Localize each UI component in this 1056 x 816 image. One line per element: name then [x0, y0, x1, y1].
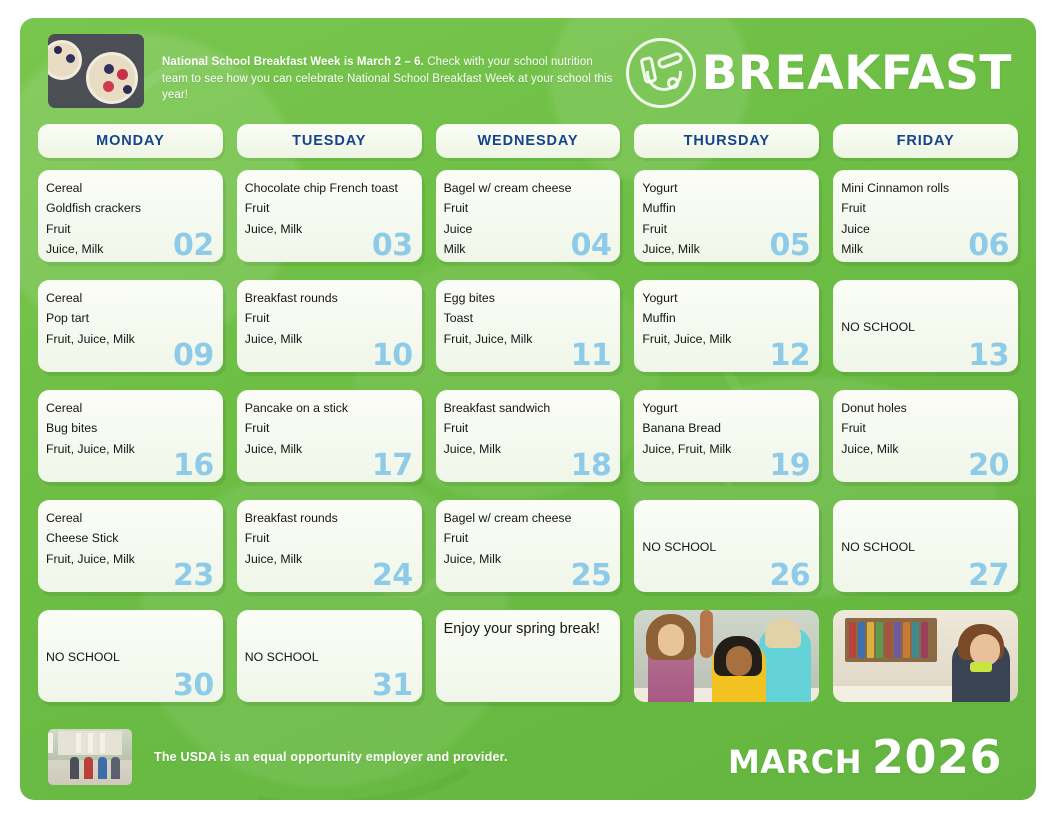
menu-item-line: Fruit	[245, 198, 412, 218]
menu-items: NO SCHOOL	[841, 317, 915, 337]
menu-item-line: Muffin	[642, 198, 809, 218]
menu-items: YogurtMuffinFruit, Juice, Milk	[642, 288, 809, 349]
calendar-cell-11[interactable]: Egg bitesToastFruit, Juice, Milk11	[436, 280, 621, 372]
calendar-cell-25[interactable]: Bagel w/ cream cheeseFruitJuice, Milk25	[436, 500, 621, 592]
menu-item-line: NO SCHOOL	[245, 647, 319, 667]
calendar-panel: National School Breakfast Week is March …	[20, 18, 1036, 800]
menu-item-line: Muffin	[642, 308, 809, 328]
menu-item-line: Cereal	[46, 178, 213, 198]
bowl-shape	[86, 52, 138, 104]
menu-item-line: Donut holes	[841, 398, 1008, 418]
menu-item-line: Yogurt	[642, 178, 809, 198]
menu-item-line: Fruit	[841, 418, 1008, 438]
menu-item-line: Milk	[841, 239, 1008, 259]
calendar-cell-18[interactable]: Breakfast sandwichFruitJuice, Milk18	[436, 390, 621, 482]
face-shape	[726, 646, 752, 676]
menu-items: Breakfast roundsFruitJuice, Milk	[245, 508, 412, 569]
menu-item-line: Fruit	[444, 198, 611, 218]
menu-items: YogurtBanana BreadJuice, Fruit, Milk	[642, 398, 809, 459]
promo-headline: National School Breakfast Week is March …	[162, 56, 424, 68]
breakfast-wordmark: BREAKFAST	[702, 50, 1012, 97]
berry-shape	[123, 85, 132, 94]
menu-items: Pancake on a stickFruitJuice, Milk	[245, 398, 412, 459]
menu-items: Enjoy your spring break!	[444, 618, 611, 640]
menu-item-line: NO SCHOOL	[841, 537, 915, 557]
menu-item-line: Bug bites	[46, 418, 213, 438]
usda-notice: The USDA is an equal opportunity employe…	[154, 750, 508, 764]
collar-shape	[970, 662, 992, 672]
face-shape	[658, 624, 684, 656]
menu-item-line: Juice, Milk	[245, 439, 412, 459]
calendar-grid: CerealGoldfish crackersFruitJuice, Milk0…	[38, 170, 1018, 702]
menu-item-line: NO SCHOOL	[642, 537, 716, 557]
calendar-cell-26[interactable]: NO SCHOOL26	[634, 500, 819, 592]
menu-item-line: Juice, Milk	[642, 239, 809, 259]
calendar-cell-photo	[634, 610, 819, 702]
weekday-header-tuesday: TUESDAY	[237, 124, 422, 158]
hair-shape	[765, 618, 801, 648]
menu-item-line: Juice	[841, 219, 1008, 239]
menu-item-line: Fruit	[46, 219, 213, 239]
students-on-campus-steps-photo	[48, 729, 132, 785]
menu-items: CerealGoldfish crackersFruitJuice, Milk	[46, 178, 213, 260]
menu-item-line: Fruit	[841, 198, 1008, 218]
calendar-cell-03[interactable]: Chocolate chip French toastFruitJuice, M…	[237, 170, 422, 262]
calendar-cell-16[interactable]: CerealBug bitesFruit, Juice, Milk16	[38, 390, 223, 482]
menu-item-line: Juice, Milk	[245, 219, 412, 239]
berry-shape	[104, 64, 114, 74]
menu-item-line: NO SCHOOL	[46, 647, 120, 667]
menu-item-line: Bagel w/ cream cheese	[444, 508, 611, 528]
menu-item-line: Fruit	[245, 528, 412, 548]
calendar-cell-27[interactable]: NO SCHOOL27	[833, 500, 1018, 592]
menu-item-line: Juice, Milk	[444, 549, 611, 569]
menu-item-line: Fruit, Juice, Milk	[642, 329, 809, 349]
menu-item-line: Fruit, Juice, Milk	[46, 439, 213, 459]
menu-items: NO SCHOOL	[642, 537, 716, 557]
calendar-cell-06[interactable]: Mini Cinnamon rollsFruitJuiceMilk06	[833, 170, 1018, 262]
menu-item-line: Mini Cinnamon rolls	[841, 178, 1008, 198]
column-shape	[76, 733, 81, 753]
library-student-photo	[833, 610, 1018, 702]
menu-item-line: Fruit, Juice, Milk	[444, 329, 611, 349]
menu-items: YogurtMuffinFruitJuice, Milk	[642, 178, 809, 260]
month-year-title: MARCH 2026	[728, 730, 1014, 784]
menu-items: NO SCHOOL	[245, 647, 319, 667]
berry-shape	[117, 69, 128, 80]
day-number: 31	[372, 671, 413, 701]
menu-item-line: Fruit	[444, 528, 611, 548]
menu-item-line: Chocolate chip French toast	[245, 178, 412, 198]
menu-item-line: Enjoy your spring break!	[444, 618, 611, 640]
menu-item-line: Fruit	[444, 418, 611, 438]
menu-item-line: Fruit	[245, 418, 412, 438]
menu-item-line: Fruit, Juice, Milk	[46, 549, 213, 569]
weekday-header-friday: FRIDAY	[833, 124, 1018, 158]
weekday-header-wednesday: WEDNESDAY	[436, 124, 621, 158]
menu-items: Mini Cinnamon rollsFruitJuiceMilk	[841, 178, 1008, 260]
menu-items: Donut holesFruitJuice, Milk	[841, 398, 1008, 459]
menu-item-line: Fruit	[642, 219, 809, 239]
menu-item-line: Pop tart	[46, 308, 213, 328]
student-shape	[84, 757, 93, 779]
table-shape	[833, 686, 970, 702]
weekday-header-monday: MONDAY	[38, 124, 223, 158]
menu-items: NO SCHOOL	[841, 537, 915, 557]
menu-items: Bagel w/ cream cheeseFruitJuice, Milk	[444, 508, 611, 569]
calendar-cell-30[interactable]: NO SCHOOL30	[38, 610, 223, 702]
berry-shape	[103, 81, 114, 92]
menu-items: CerealCheese StickFruit, Juice, Milk	[46, 508, 213, 569]
calendar-cell-23[interactable]: CerealCheese StickFruit, Juice, Milk23	[38, 500, 223, 592]
menu-item-line: Juice, Milk	[245, 329, 412, 349]
menu-item-line: Breakfast sandwich	[444, 398, 611, 418]
menu-item-line: Juice, Milk	[841, 439, 1008, 459]
classroom-students-photo	[634, 610, 819, 702]
calendar-cell-19[interactable]: YogurtBanana BreadJuice, Fruit, Milk19	[634, 390, 819, 482]
egg-icon-part	[667, 77, 679, 89]
calendar-cell-31[interactable]: NO SCHOOL31	[237, 610, 422, 702]
menu-items: Breakfast sandwichFruitJuice, Milk	[444, 398, 611, 459]
calendar-cell-24[interactable]: Breakfast roundsFruitJuice, Milk24	[237, 500, 422, 592]
promo-text: National School Breakfast Week is March …	[162, 32, 617, 104]
student-shape	[70, 757, 79, 779]
weekday-header-thursday: THURSDAY	[634, 124, 819, 158]
calendar-cell-13[interactable]: NO SCHOOL13	[833, 280, 1018, 372]
menu-item-line: Pancake on a stick	[245, 398, 412, 418]
bowl-shape	[48, 40, 82, 80]
menu-item-line: Yogurt	[642, 288, 809, 308]
menu-item-line: Cereal	[46, 508, 213, 528]
calendar-cell-12[interactable]: YogurtMuffinFruit, Juice, Milk12	[634, 280, 819, 372]
student-shape	[48, 757, 57, 779]
menu-item-line: Fruit, Juice, Milk	[46, 329, 213, 349]
student-shape	[98, 757, 107, 779]
student-shape	[111, 757, 120, 779]
menu-items: CerealPop tartFruit, Juice, Milk	[46, 288, 213, 349]
menu-items: NO SCHOOL	[46, 647, 120, 667]
column-shape	[100, 733, 105, 753]
calendar-footer: The USDA is an equal opportunity employe…	[38, 720, 1018, 790]
menu-items: CerealBug bitesFruit, Juice, Milk	[46, 398, 213, 459]
calendar-header: National School Breakfast Week is March …	[38, 32, 1018, 124]
menu-item-line: Cereal	[46, 398, 213, 418]
menu-item-line: Banana Bread	[642, 418, 809, 438]
berry-shape	[54, 46, 62, 54]
menu-item-line: Milk	[444, 239, 611, 259]
year-value: 2026	[872, 730, 1002, 784]
calendar-cell-09[interactable]: CerealPop tartFruit, Juice, Milk09	[38, 280, 223, 372]
menu-items: Breakfast roundsFruitJuice, Milk	[245, 288, 412, 349]
calendar-cell-20[interactable]: Donut holesFruitJuice, Milk20	[833, 390, 1018, 482]
day-number: 30	[173, 671, 214, 701]
menu-item-line: Cheese Stick	[46, 528, 213, 548]
calendar-cell-17[interactable]: Pancake on a stickFruitJuice, Milk17	[237, 390, 422, 482]
menu-items: Chocolate chip French toastFruitJuice, M…	[245, 178, 412, 239]
menu-item-line: Bagel w/ cream cheese	[444, 178, 611, 198]
berry-shape	[66, 54, 75, 63]
raised-arm-shape	[700, 610, 713, 658]
menu-item-line: Egg bites	[444, 288, 611, 308]
oatmeal-berries-photo	[48, 34, 144, 108]
weekday-header-row: MONDAY TUESDAY WEDNESDAY THURSDAY FRIDAY	[38, 124, 1018, 158]
menu-item-line: Juice, Fruit, Milk	[642, 439, 809, 459]
bacon-icon-part	[655, 51, 683, 70]
breakfast-tray-icon	[626, 38, 696, 108]
calendar-cell-note[interactable]: Enjoy your spring break!	[436, 610, 621, 702]
menu-item-line: Yogurt	[642, 398, 809, 418]
calendar-cell-02[interactable]: CerealGoldfish crackersFruitJuice, Milk0…	[38, 170, 223, 262]
menu-items: Egg bitesToastFruit, Juice, Milk	[444, 288, 611, 349]
month-name: MARCH	[728, 743, 862, 781]
menu-item-line: Breakfast rounds	[245, 288, 412, 308]
breakfast-brand: BREAKFAST	[626, 32, 1018, 108]
calendar-cell-photo	[833, 610, 1018, 702]
menu-item-line: Goldfish crackers	[46, 198, 213, 218]
menu-item-line: Juice, Milk	[444, 439, 611, 459]
menu-item-line: NO SCHOOL	[841, 317, 915, 337]
menu-item-line: Juice, Milk	[46, 239, 213, 259]
menu-items: Bagel w/ cream cheeseFruitJuiceMilk	[444, 178, 611, 260]
breakfast-menu-calendar-page: National School Breakfast Week is March …	[0, 0, 1056, 816]
calendar-cell-05[interactable]: YogurtMuffinFruitJuice, Milk05	[634, 170, 819, 262]
menu-item-line: Juice, Milk	[245, 549, 412, 569]
column-shape	[88, 733, 93, 753]
menu-item-line: Toast	[444, 308, 611, 328]
day-number: 26	[769, 561, 810, 591]
calendar-cell-04[interactable]: Bagel w/ cream cheeseFruitJuiceMilk04	[436, 170, 621, 262]
menu-item-line: Cereal	[46, 288, 213, 308]
day-number: 27	[968, 561, 1009, 591]
calendar-cell-10[interactable]: Breakfast roundsFruitJuice, Milk10	[237, 280, 422, 372]
menu-item-line: Juice	[444, 219, 611, 239]
menu-item-line: Fruit	[245, 308, 412, 328]
menu-item-line: Breakfast rounds	[245, 508, 412, 528]
column-shape	[48, 733, 53, 753]
bookshelf-shape	[845, 618, 937, 662]
day-number: 13	[968, 341, 1009, 371]
